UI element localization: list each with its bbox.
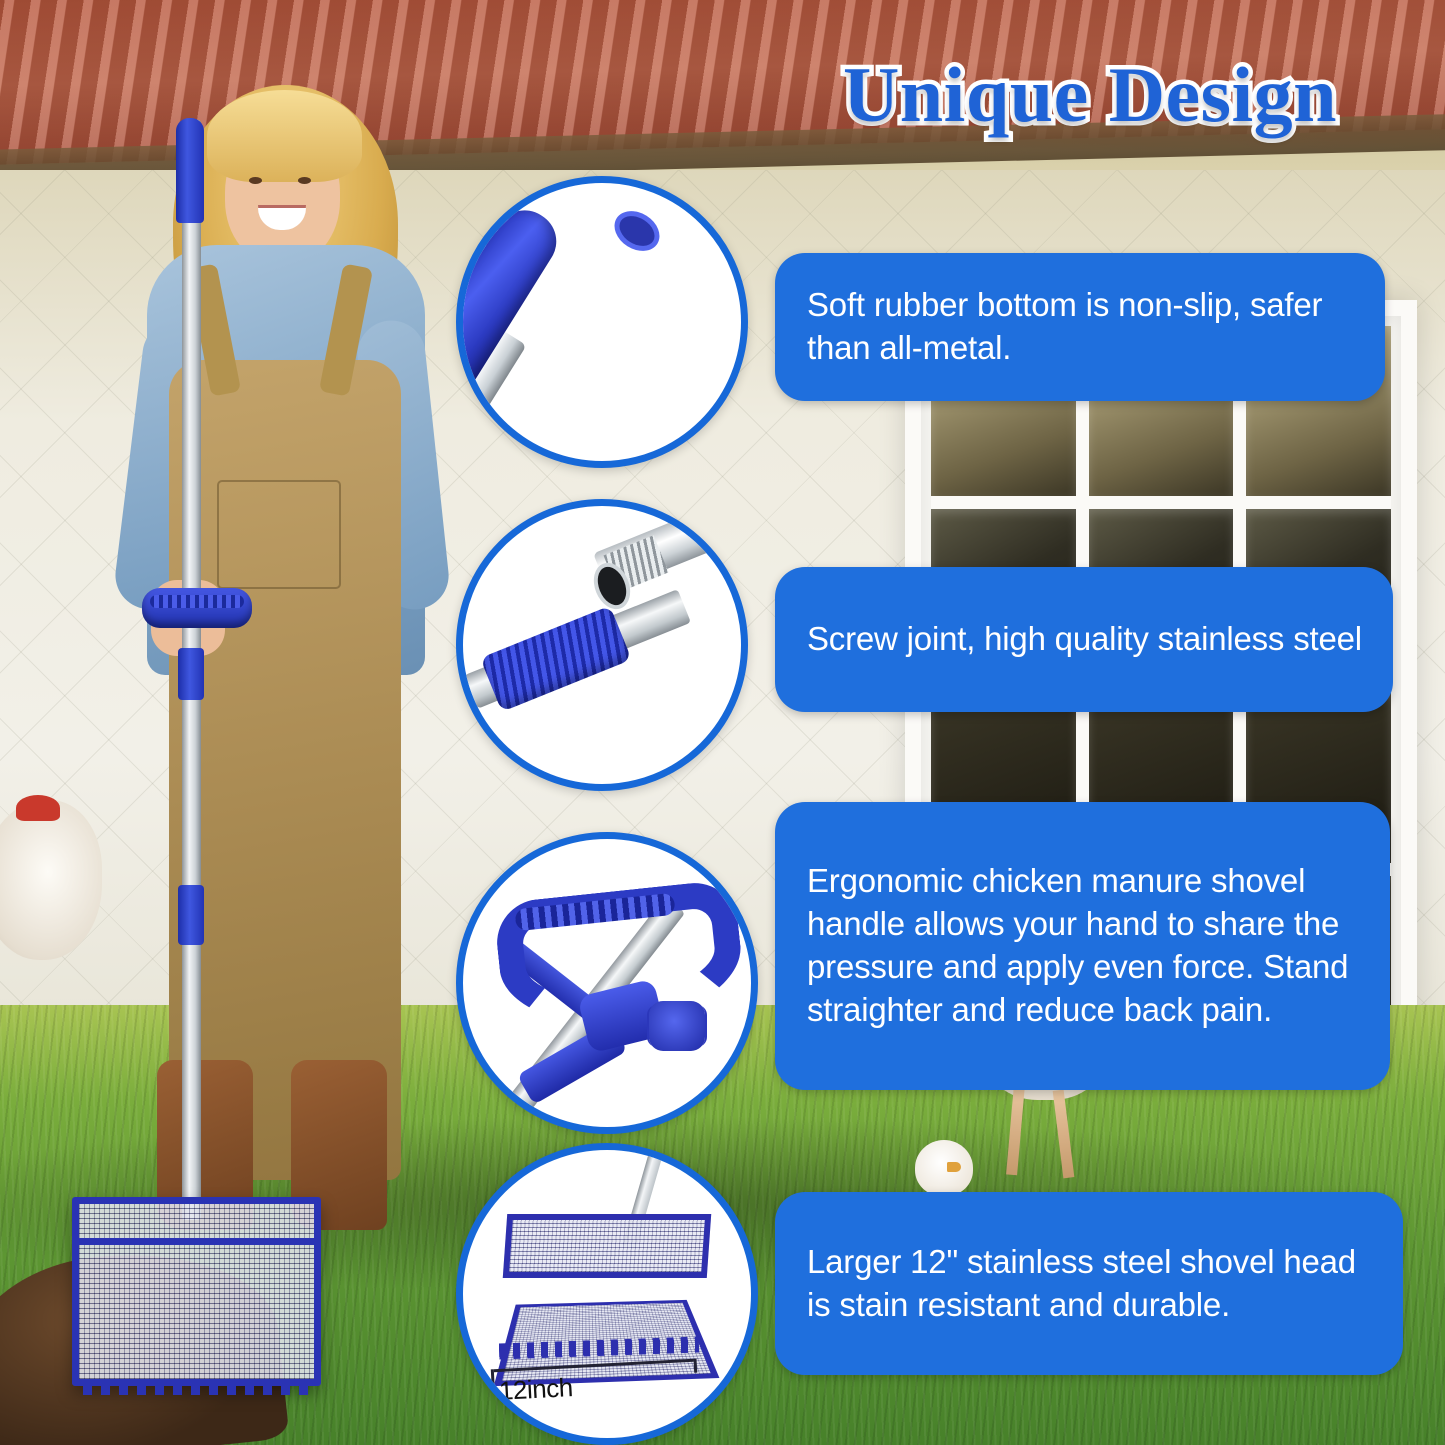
blue-ribbed-collar-icon bbox=[480, 606, 632, 712]
pole-joint bbox=[178, 648, 204, 700]
detail-circle-screw-joint bbox=[456, 499, 748, 791]
callout-shovel-head: Larger 12" stainless steel shovel head i… bbox=[775, 1192, 1403, 1375]
shovel-head bbox=[72, 1197, 321, 1386]
detail-circle-shovel-head: 12inch bbox=[456, 1143, 758, 1445]
hanging-hole-icon bbox=[607, 203, 667, 259]
eye bbox=[298, 177, 311, 184]
eye bbox=[249, 177, 262, 184]
page-title: Unique Design bbox=[770, 56, 1410, 134]
shovel-back-panel-icon bbox=[503, 1214, 711, 1278]
callout-screw-joint: Screw joint, high quality stainless stee… bbox=[775, 567, 1393, 712]
chicken-comb bbox=[16, 795, 60, 821]
chick-beak bbox=[947, 1162, 961, 1172]
detail-circle-ergonomic-handle bbox=[456, 832, 758, 1134]
pole-joint bbox=[178, 885, 204, 945]
callout-text: Screw joint, high quality stainless stee… bbox=[807, 618, 1362, 661]
person-holding-shovel bbox=[95, 60, 455, 1390]
callout-text: Ergonomic chicken manure shovel handle a… bbox=[807, 860, 1364, 1032]
callout-ergonomic-handle: Ergonomic chicken manure shovel handle a… bbox=[775, 802, 1390, 1090]
dimension-label: 12inch bbox=[498, 1372, 573, 1407]
adjustment-knob-icon bbox=[649, 1001, 705, 1051]
product-infographic: Unique Design 12inch Soft rubber bottom … bbox=[0, 0, 1445, 1445]
overall-pocket bbox=[217, 480, 341, 589]
pole-grip-top bbox=[176, 118, 204, 223]
hair-fringe bbox=[207, 90, 362, 182]
detail-circle-soft-rubber-bottom bbox=[456, 176, 748, 468]
callout-soft-rubber-bottom: Soft rubber bottom is non-slip, safer th… bbox=[775, 253, 1385, 401]
ergonomic-handle bbox=[142, 588, 252, 628]
callout-text: Larger 12" stainless steel shovel head i… bbox=[807, 1241, 1377, 1327]
callout-text: Soft rubber bottom is non-slip, safer th… bbox=[807, 284, 1359, 370]
chick bbox=[915, 1140, 973, 1196]
